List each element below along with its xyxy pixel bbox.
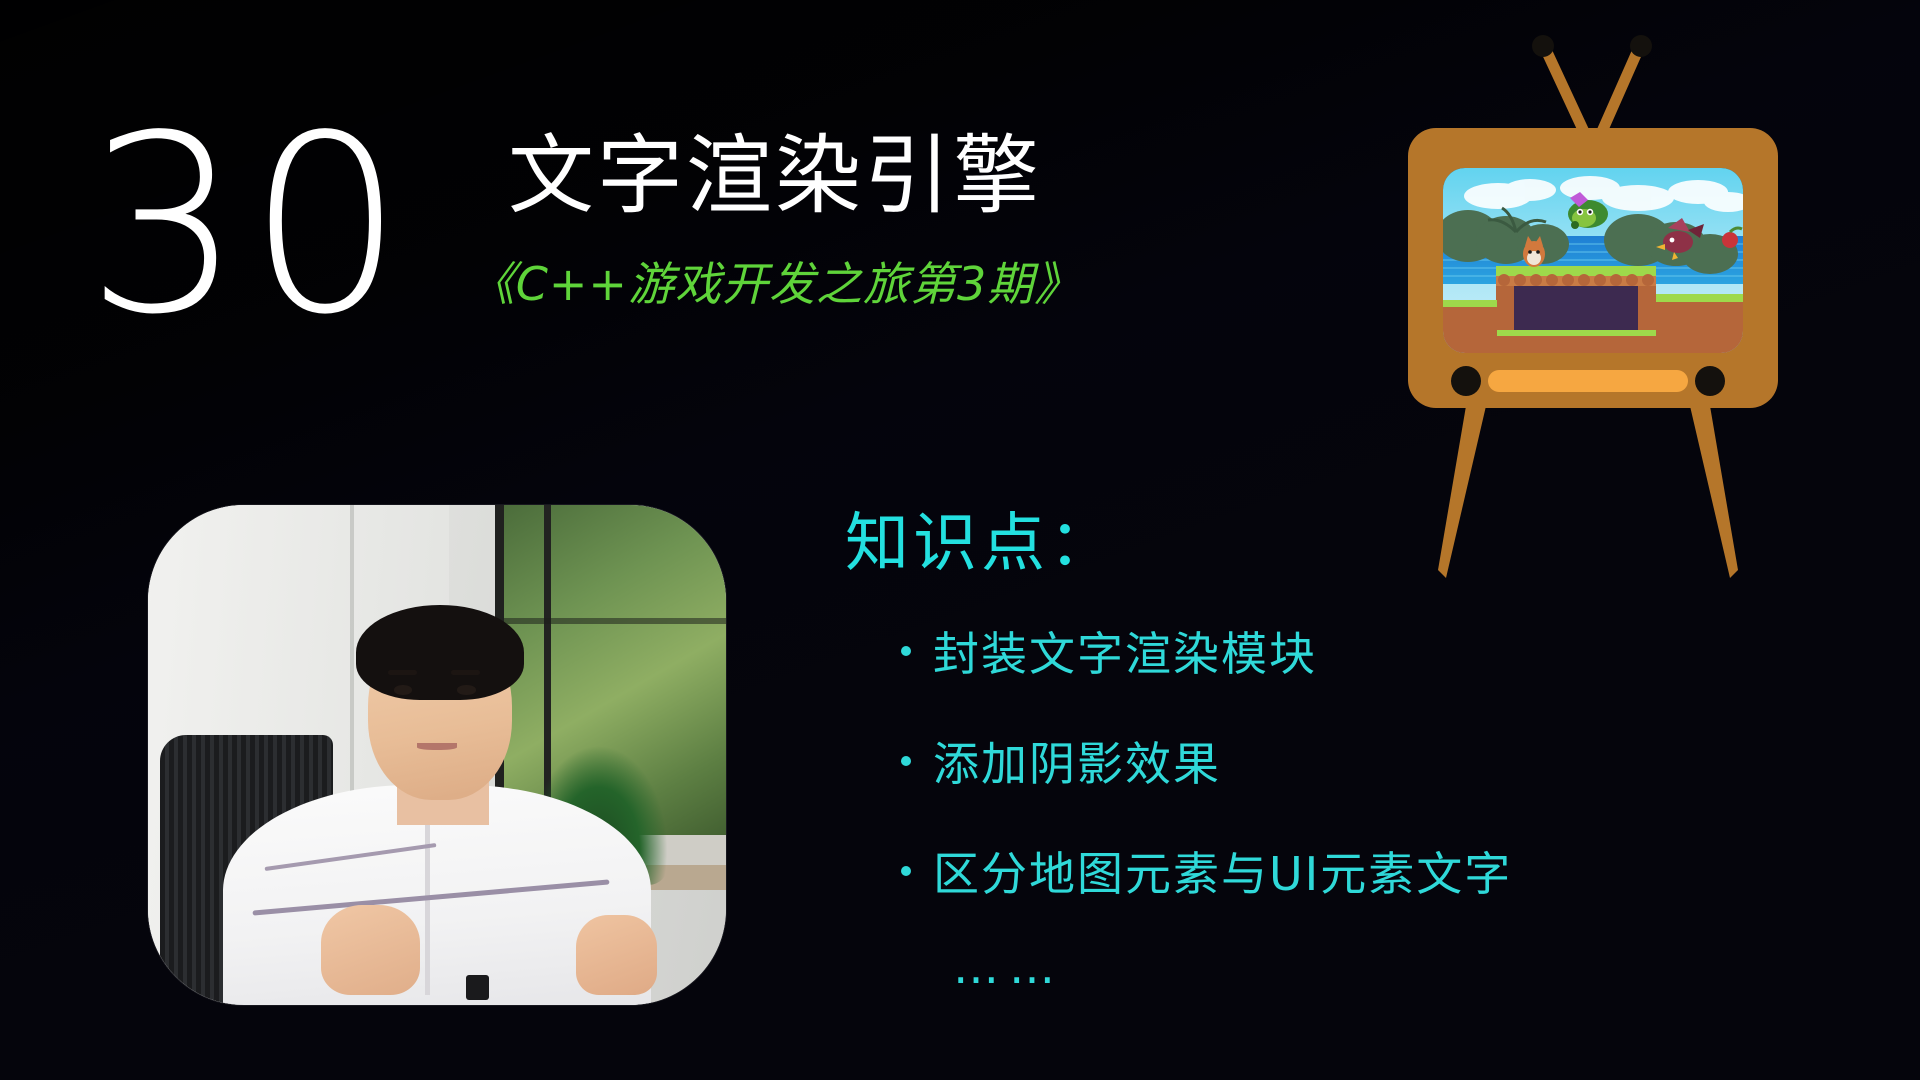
photo-wall-seam — [350, 505, 354, 815]
list-item: 添加阴影效果 — [901, 728, 1512, 794]
list-item: 封装文字渲染模块 — [901, 618, 1512, 684]
tv-leg — [1690, 406, 1738, 578]
photo-person-hair — [356, 605, 524, 700]
slide-canvas: 30 文字渲染引擎 《C++游戏开发之旅第3期》 知识点： 封装文字渲染模块 添… — [0, 0, 1920, 1080]
page-title: 文字渲染引擎 — [455, 128, 1095, 224]
tv-knob — [1695, 366, 1725, 396]
photo-lapel-microphone — [466, 975, 489, 1000]
episode-number: 30 — [86, 110, 410, 343]
list-ellipsis: …… — [901, 940, 1512, 994]
presenter-photo — [148, 505, 726, 1005]
bullet-dot-icon — [901, 646, 911, 656]
list-item-label: 添加阴影效果 — [933, 728, 1221, 794]
tv-speaker-bar — [1488, 370, 1688, 392]
photo-person-hand — [576, 915, 657, 995]
tv-screen — [1436, 168, 1752, 354]
list-item-label: 区分地图元素与UI元素文字 — [933, 838, 1512, 904]
photo-person-eye — [457, 685, 475, 695]
list-item: 区分地图元素与UI元素文字 — [901, 838, 1512, 904]
knowledge-points-block: 知识点： 封装文字渲染模块 添加阴影效果 区分地图元素与UI元素文字 …… — [845, 492, 1512, 994]
photo-person-hand — [321, 905, 419, 995]
knowledge-points-heading: 知识点： — [845, 492, 1512, 584]
photo-person-eyebrow — [451, 670, 480, 675]
list-item-label: 封装文字渲染模块 — [933, 618, 1317, 684]
photo-person-mouth — [417, 743, 457, 750]
tv-antenna-icon — [1532, 35, 1652, 136]
knowledge-points-list: 封装文字渲染模块 添加阴影效果 区分地图元素与UI元素文字 …… — [845, 618, 1512, 994]
tv-knob — [1451, 366, 1481, 396]
photo-person-eyebrow — [388, 670, 417, 675]
title-block: 文字渲染引擎 《C++游戏开发之旅第3期》 — [455, 128, 1095, 314]
bullet-dot-icon — [901, 866, 911, 876]
series-subtitle: 《C++游戏开发之旅第3期》 — [455, 248, 1095, 314]
photo-person-eye — [394, 685, 412, 695]
bullet-dot-icon — [901, 756, 911, 766]
